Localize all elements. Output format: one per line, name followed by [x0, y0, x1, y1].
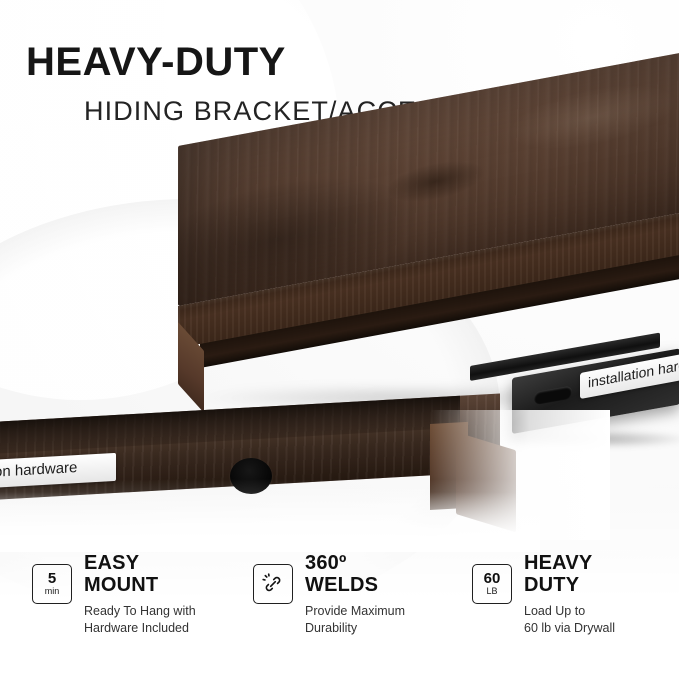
feature-text-block: EASY MOUNT Ready To Hang with Hardware I… [84, 552, 196, 637]
feature-title-line1: 360º [305, 552, 405, 574]
feature-heavy-duty: 60 LB HEAVY DUTY Load Up to 60 lb via Dr… [460, 552, 679, 662]
feature-badge-weight: 60 LB [472, 564, 512, 604]
feature-badge-weld [253, 564, 293, 604]
badge-unit: LB [486, 587, 497, 597]
feature-text-block: 360º WELDS Provide Maximum Durability [305, 552, 405, 637]
feature-description: Load Up to 60 lb via Drywall [524, 603, 615, 637]
weld-link-icon [262, 573, 284, 595]
bracket-shadow [505, 430, 679, 448]
feature-desc-line1: Provide Maximum [305, 603, 405, 620]
feature-badge-time: 5 min [32, 564, 72, 604]
page-title: HEAVY-DUTY [26, 42, 286, 82]
feature-desc-line2: Durability [305, 620, 405, 637]
badge-value: 5 [48, 571, 56, 586]
feature-desc-line1: Ready To Hang with [84, 603, 196, 620]
feature-title-line1: EASY [84, 552, 196, 574]
bracket-slot [534, 385, 572, 405]
feature-desc-line2: 60 lb via Drywall [524, 620, 615, 637]
feature-desc-line2: Hardware Included [84, 620, 196, 637]
badge-value: 60 [484, 571, 501, 586]
feature-title-line1: HEAVY [524, 552, 615, 574]
feature-easy-mount: 5 min EASY MOUNT Ready To Hang with Hard… [0, 552, 239, 662]
badge-unit: min [45, 587, 60, 597]
feature-360-welds: 360º WELDS Provide Maximum Durability [239, 552, 460, 662]
feature-row: 5 min EASY MOUNT Ready To Hang with Hard… [0, 552, 679, 662]
feature-title-line2: WELDS [305, 574, 405, 596]
feature-desc-line1: Load Up to [524, 603, 615, 620]
feature-text-block: HEAVY DUTY Load Up to 60 lb via Drywall [524, 552, 615, 637]
hardware-label-detail-text: on hardware [0, 459, 77, 481]
product-infographic: HEAVY-DUTY HIDING BRACKET/ACCESSORY inst… [0, 0, 679, 679]
feature-description: Provide Maximum Durability [305, 603, 405, 637]
feature-title-line2: MOUNT [84, 574, 196, 596]
feature-description: Ready To Hang with Hardware Included [84, 603, 196, 637]
main-shelf-photo: installation hardware [0, 130, 679, 410]
feature-title-line2: DUTY [524, 574, 615, 596]
